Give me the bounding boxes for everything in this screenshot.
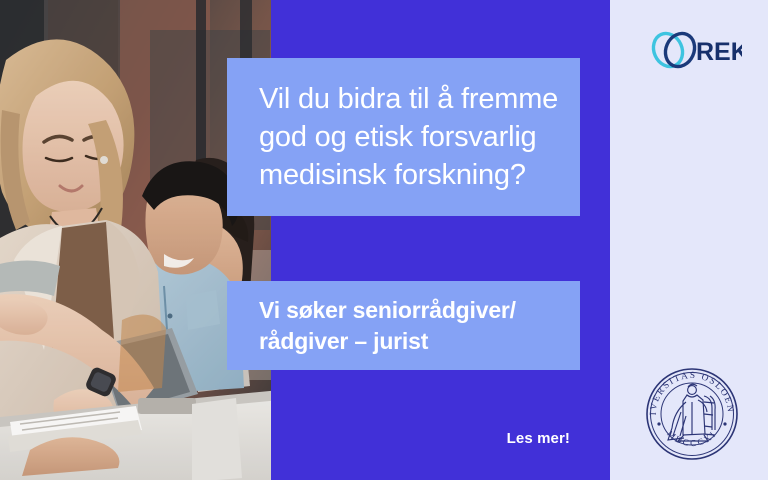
uio-seal: UNIVERSITAS OSLOENSIS MDCCCXI: [640, 362, 744, 466]
job-title-box: Vi søker seniorrådgiver/ rådgiver – juri…: [227, 281, 580, 370]
headline-text: Vil du bidra til å fremme god og etisk f…: [227, 80, 558, 194]
recruitment-banner: Vil du bidra til å fremme god og etisk f…: [0, 0, 768, 480]
read-more-link[interactable]: Les mer!: [380, 430, 570, 452]
rek-wordmark: REK: [696, 38, 742, 66]
rek-logo[interactable]: REK: [650, 28, 742, 72]
job-title-text: Vi søker seniorrådgiver/ rådgiver – juri…: [227, 295, 516, 357]
headline-box: Vil du bidra til å fremme god og etisk f…: [227, 58, 580, 216]
